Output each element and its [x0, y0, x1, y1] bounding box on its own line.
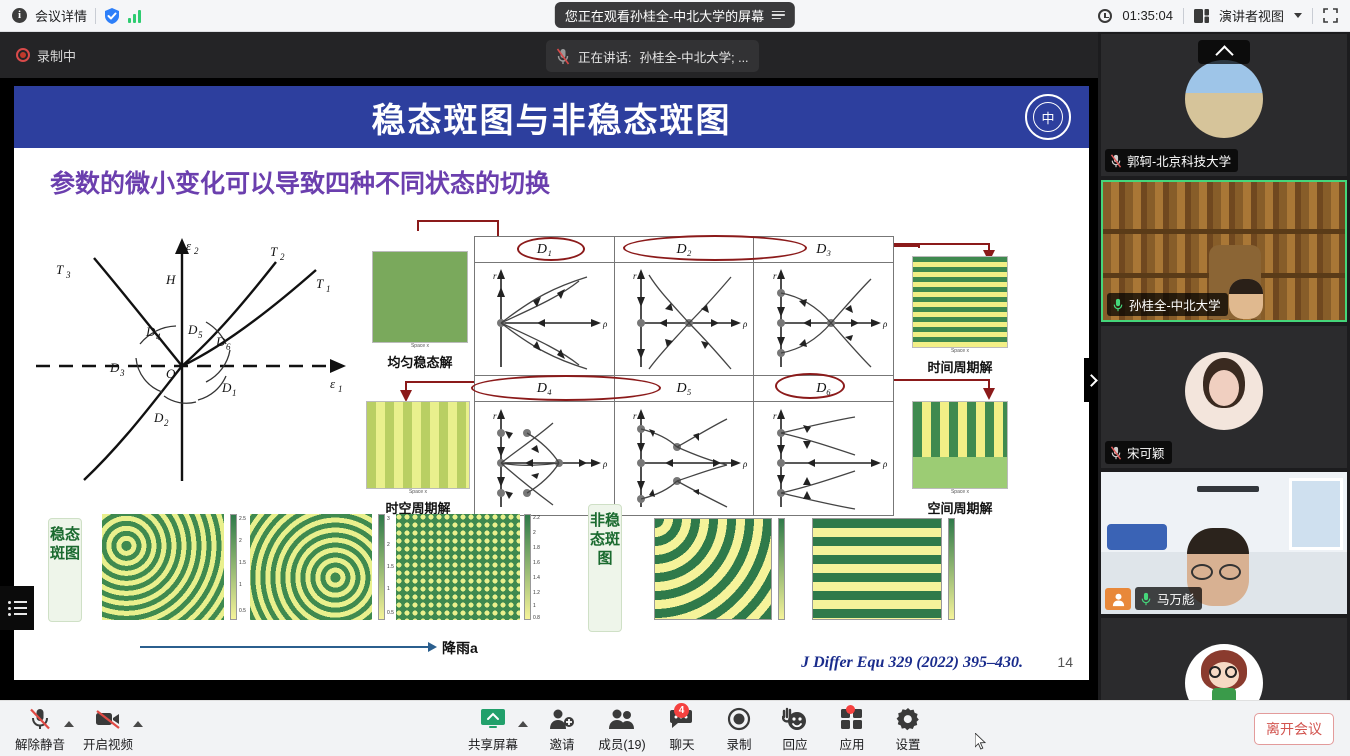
svg-text:r: r: [773, 271, 777, 281]
slide-subtitle: 参数的微小变化可以导致四种不同状态的切换: [50, 164, 550, 200]
colorbar-4: [778, 518, 785, 620]
svg-text:ε: ε: [186, 238, 192, 253]
meeting-timer: 01:35:04: [1122, 8, 1173, 23]
video-button[interactable]: 开启视频: [76, 706, 140, 754]
share-screen-icon: [480, 706, 506, 732]
svg-text:5: 5: [198, 330, 203, 340]
reaction-button[interactable]: 回应: [763, 706, 827, 754]
apps-button[interactable]: 应用: [820, 706, 884, 754]
region-label: D₆: [816, 381, 831, 397]
region-label: D₅: [677, 381, 692, 397]
expand-panel-button[interactable]: [1084, 358, 1098, 402]
settings-gear-icon: [896, 706, 920, 732]
phase-label-cell: D₆: [754, 376, 893, 401]
colorbar-tick: 1: [387, 586, 390, 592]
mic-active-icon: [1140, 592, 1152, 606]
svg-text:r: r: [633, 411, 637, 421]
nonsteady-pattern-tag: 非稳态斑图: [588, 504, 622, 632]
slide-title: 稳态斑图与非稳态斑图: [372, 93, 732, 142]
recording-label: 录制中: [37, 46, 76, 65]
phase-label-cell: D₄: [475, 376, 615, 401]
colorbar-tick: 0.5: [239, 608, 246, 614]
reaction-icon: [782, 706, 808, 732]
record-label: 录制: [726, 734, 751, 753]
phase-portrait-cell: rρ: [615, 263, 755, 375]
colorbar-tick: 1.4: [533, 575, 540, 581]
svg-text:r: r: [773, 411, 777, 421]
chevron-down-icon[interactable]: [1294, 13, 1302, 18]
phase-label-cell: D₂: [615, 237, 755, 262]
mic-muted-icon: [28, 706, 52, 732]
phase-label-cell: D₅: [615, 376, 755, 401]
citation-text: J Differ Equ 329 (2022) 395–430.: [801, 654, 1023, 672]
participant-name-chip: 马万彪: [1135, 587, 1202, 610]
pattern-caption: 空间周期解: [912, 498, 1008, 517]
participants-label: 成员(19): [598, 734, 645, 753]
svg-text:6: 6: [226, 342, 231, 352]
region-label: D₄: [537, 381, 552, 397]
rain-axis-label: 降雨a: [442, 638, 478, 658]
svg-text:r: r: [633, 271, 637, 281]
phase-portrait-cell: rρ: [754, 402, 893, 515]
svg-text:4: 4: [156, 332, 161, 342]
apps-dot-badge: [846, 705, 855, 714]
participant-name-chip: 郭轲-北京科技大学: [1105, 149, 1238, 172]
chevron-right-icon: [1085, 374, 1098, 387]
colorbar-tick: 2: [533, 530, 536, 536]
svg-text:1: 1: [338, 384, 343, 394]
participant-name: 孙桂全-中北大学: [1129, 295, 1221, 314]
participant-name-chip: 宋可颖: [1105, 441, 1172, 464]
university-logo-text: 中: [1033, 102, 1063, 132]
clock-icon: [1098, 9, 1112, 23]
participant-tile[interactable]: 孙桂全-中北大学: [1101, 180, 1347, 322]
rail-scroll-up-button[interactable]: [1198, 40, 1250, 64]
mic-options-caret[interactable]: [64, 721, 74, 727]
slide-list-icon: [8, 601, 27, 616]
colorbar-2: [378, 514, 385, 620]
pattern-caption: 时间周期解: [912, 357, 1008, 376]
svg-text:D: D: [215, 334, 226, 349]
rain-axis-arrowhead: [428, 642, 437, 652]
mic-active-icon: [1112, 298, 1124, 312]
participant-tile[interactable]: 赵志红: [1101, 618, 1347, 700]
divider: [95, 8, 96, 24]
presentation-slide: 稳态斑图与非稳态斑图 中 参数的微小变化可以导致四种不同状态的切换: [14, 86, 1089, 680]
signal-bars-icon[interactable]: [128, 9, 141, 23]
region-label: D₂: [677, 242, 692, 258]
video-label: 开启视频: [83, 734, 133, 753]
share-options-caret[interactable]: [518, 721, 528, 727]
share-screen-label: 共享屏幕: [468, 734, 518, 753]
avatar: [1185, 644, 1263, 700]
bifurcation-diagram: T3 T2 T1 ε2 ε1 H D5 D6 D4 D3 D1 D2 O: [30, 226, 360, 486]
svg-text:ρ: ρ: [602, 459, 608, 469]
pattern-stripes-2: [250, 514, 372, 620]
chevron-up-icon: [1215, 45, 1233, 63]
glasses: [1191, 564, 1213, 580]
recording-bar: 录制中 正在讲话: 孙桂全-中北大学; ...: [0, 32, 1098, 78]
svg-text:3: 3: [65, 270, 71, 280]
region-label: D₃: [816, 242, 831, 258]
svg-text:D: D: [221, 380, 232, 395]
active-speaker-chip: 正在讲话: 孙桂全-中北大学; ...: [546, 40, 759, 72]
colorbar-1: [230, 514, 237, 620]
pattern-image: [912, 401, 1008, 489]
recording-indicator[interactable]: 录制中: [0, 46, 76, 65]
svg-text:r: r: [493, 411, 497, 421]
steady-pattern-tag: 稳态斑图: [48, 518, 82, 622]
participant-tile[interactable]: 宋可颖: [1101, 326, 1347, 468]
invite-button[interactable]: 邀请: [530, 706, 594, 754]
colorbar-tick: 1.8: [533, 545, 540, 551]
mute-button[interactable]: 解除静音: [8, 706, 72, 754]
phase-portrait-row-1: rρ rρ: [475, 263, 893, 376]
leave-meeting-button[interactable]: 离开会议: [1254, 713, 1334, 745]
participant-rail[interactable]: 郭轲-北京科技大学 孙桂全-中北大学 宋可颖: [1098, 32, 1350, 700]
rain-axis-line: [140, 646, 430, 648]
chat-button[interactable]: 4 聊天: [650, 706, 714, 754]
axis-x-label: Space x: [366, 489, 470, 495]
colorbar-tick: 2.2: [533, 515, 540, 521]
settings-button[interactable]: 设置: [876, 706, 940, 754]
pattern-caption: 均匀稳态解: [372, 352, 468, 371]
colorbar-tick: 2: [387, 542, 390, 548]
pattern-thumb-uniform: Space x 均匀稳态解: [372, 251, 468, 371]
participant-name: 郭轲-北京科技大学: [1127, 151, 1231, 170]
avatar: [1185, 60, 1263, 138]
speaking-name: 孙桂全-中北大学; ...: [639, 47, 748, 66]
heatmap-bands: [812, 518, 942, 620]
svg-text:ρ: ρ: [742, 319, 748, 329]
svg-text:r: r: [493, 271, 497, 281]
phase-header-row-1: D₁ D₂ D₃: [475, 237, 893, 263]
shield-check-icon[interactable]: [104, 7, 120, 25]
svg-text:ρ: ρ: [742, 459, 748, 469]
svg-text:ε: ε: [330, 376, 336, 391]
meeting-toolbar: 解除静音 开启视频 共享屏幕 邀请 成员(19) 4 聊天: [0, 700, 1350, 756]
pattern-image: [366, 401, 470, 489]
svg-text:T: T: [56, 262, 64, 277]
phase-label-cell: D₁: [475, 237, 615, 262]
participant-name: 宋可颖: [1127, 443, 1165, 462]
top-bar: i 会议详情 您正在观看孙桂全-中北大学的屏幕 01:35:04 演讲者视图: [0, 0, 1350, 32]
svg-text:T: T: [316, 276, 324, 291]
colorbar-tick: 1.5: [387, 564, 394, 570]
settings-label: 设置: [895, 734, 920, 753]
colorbar-tick: 3: [387, 516, 390, 522]
divider: [1183, 8, 1184, 24]
divider: [1312, 8, 1313, 24]
svg-text:O: O: [166, 366, 176, 381]
pattern-thumb-temporal: Space x 时间周期解: [912, 256, 1008, 376]
screen-share-notice: 您正在观看孙桂全-中北大学的屏幕: [555, 2, 795, 28]
region-label: D₁: [537, 242, 552, 258]
svg-text:ρ: ρ: [882, 459, 888, 469]
phase-portrait-cell: rρ: [754, 263, 893, 375]
speaking-prefix: 正在讲话:: [578, 47, 631, 66]
colorbar-tick: 0.5: [387, 610, 394, 616]
colorbar-tick: 1.6: [533, 560, 540, 566]
meeting-detail-label[interactable]: 会议详情: [35, 6, 87, 25]
fullscreen-icon[interactable]: [1323, 8, 1338, 23]
avatar: [1185, 352, 1263, 430]
slide-list-button[interactable]: [0, 586, 34, 630]
participants-button[interactable]: 成员(19): [590, 706, 654, 754]
axis-x-label: Space x: [912, 348, 1008, 354]
svg-text:D: D: [109, 360, 120, 375]
invite-label: 邀请: [549, 734, 574, 753]
svg-text:H: H: [165, 272, 176, 287]
phase-portrait-cell: rρ: [615, 402, 755, 515]
camera-off-icon: [95, 706, 121, 732]
record-button[interactable]: 录制: [707, 706, 771, 754]
mic-muted-icon: [1110, 446, 1122, 460]
phase-portrait-cell: rρ: [475, 263, 615, 375]
chat-badge: 4: [674, 703, 689, 718]
slide-page-number: 14: [1057, 654, 1073, 670]
svg-text:ρ: ρ: [602, 319, 608, 329]
participant-tile[interactable]: 马万彪: [1101, 472, 1347, 614]
glasses: [1219, 564, 1241, 580]
top-bar-left: i 会议详情: [0, 6, 141, 25]
pattern-image: [912, 256, 1008, 348]
monitor: [1197, 486, 1259, 492]
axis-x-label: Space x: [372, 343, 468, 349]
pattern-spots: [396, 514, 520, 620]
apps-label: 应用: [839, 734, 864, 753]
reaction-label: 回应: [782, 734, 807, 753]
svg-text:T: T: [270, 244, 278, 259]
pattern-thumb-spatial: Space x 空间周期解: [912, 401, 1008, 517]
apps-icon: [840, 706, 864, 732]
shared-screen-stage: 稳态斑图与非稳态斑图 中 参数的微小变化可以导致四种不同状态的切换: [0, 78, 1098, 700]
axis-x-label: Space x: [912, 489, 1008, 495]
colorbar-tick: 2.5: [239, 516, 246, 522]
colorbar-tick: 1.2: [533, 590, 540, 596]
record-dot-icon: [16, 48, 30, 62]
svg-text:D: D: [153, 410, 164, 425]
colorbar-5: [948, 518, 955, 620]
svg-text:D: D: [145, 324, 156, 339]
svg-text:1: 1: [326, 284, 331, 294]
heatmap-checker: [654, 518, 772, 620]
participants-icon: [609, 706, 635, 732]
shelf-line: [1103, 229, 1345, 234]
hamburger-menu-icon[interactable]: [772, 11, 785, 20]
phase-label-cell: D₃: [754, 237, 893, 262]
leave-meeting-label: 离开会议: [1266, 719, 1322, 739]
university-logo: 中: [1025, 94, 1071, 140]
speaker-view-icon[interactable]: [1194, 9, 1209, 23]
window: [1289, 478, 1343, 550]
view-mode-label[interactable]: 演讲者视图: [1219, 6, 1284, 25]
slide-header-band: 稳态斑图与非稳态斑图: [14, 86, 1089, 148]
mic-muted-icon: [1110, 154, 1122, 168]
pattern-stripes-1: [102, 514, 224, 620]
svg-text:2: 2: [194, 246, 199, 256]
svg-text:ρ: ρ: [882, 319, 888, 329]
colorbar-3: [524, 514, 531, 620]
chat-label: 聊天: [669, 734, 694, 753]
svg-text:D: D: [187, 322, 198, 337]
mute-label: 解除静音: [15, 734, 65, 753]
colorbar-tick: 1.5: [239, 560, 246, 566]
colorbar-tick: 0.8: [533, 615, 540, 621]
video-options-caret[interactable]: [133, 721, 143, 727]
info-icon[interactable]: i: [12, 8, 27, 23]
invite-icon: [549, 706, 575, 732]
host-badge: [1105, 588, 1131, 610]
svg-text:2: 2: [280, 252, 285, 262]
svg-text:2: 2: [164, 418, 169, 428]
participant-name: 马万彪: [1157, 589, 1195, 608]
mic-muted-icon: [556, 48, 570, 65]
phase-header-row-2: D₄ D₅ D₆: [475, 376, 893, 402]
colorbar-tick: 1: [533, 603, 536, 609]
participant-name-chip: 孙桂全-中北大学: [1107, 293, 1228, 316]
svg-text:3: 3: [119, 368, 125, 378]
svg-text:1: 1: [232, 388, 237, 398]
screen-share-notice-label: 您正在观看孙桂全-中北大学的屏幕: [565, 6, 764, 25]
record-icon: [727, 706, 751, 732]
chat-icon: 4: [669, 706, 695, 732]
participant-tile[interactable]: 郭轲-北京科技大学: [1101, 34, 1347, 176]
pattern-thumb-spatiotemporal: Space x 时空周期解: [366, 401, 470, 517]
phase-portrait-table: D₁ D₂ D₃: [474, 236, 894, 516]
phase-portrait-row-2: rρ: [475, 402, 893, 515]
share-screen-button[interactable]: 共享屏幕: [461, 706, 525, 754]
colorbar-tick: 1: [239, 582, 242, 588]
sofa: [1107, 524, 1167, 550]
colorbar-tick: 2: [239, 538, 242, 544]
pattern-image: [372, 251, 468, 343]
top-bar-right: 01:35:04 演讲者视图: [1098, 6, 1350, 25]
phase-portrait-cell: rρ: [475, 402, 615, 515]
